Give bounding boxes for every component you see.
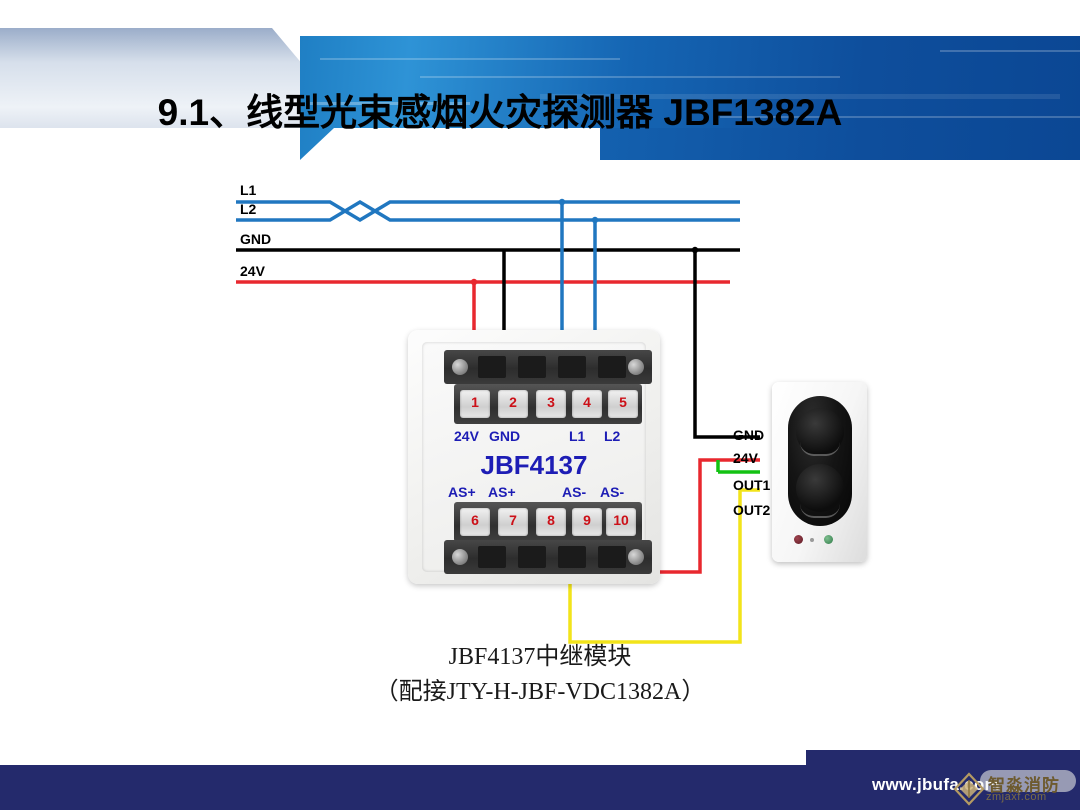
screw-icon [452, 549, 468, 565]
detector-indicator-leds [794, 534, 846, 544]
terminal-7[interactable]: 7 [498, 508, 528, 536]
terminal-6[interactable]: 6 [460, 508, 490, 536]
terminal-strip-lower [444, 540, 652, 574]
terminal-label-as-plus-1: AS+ [448, 484, 476, 500]
junction-dot [592, 217, 598, 223]
terminal-5[interactable]: 5 [608, 390, 638, 418]
module-name: JBF4137 [408, 450, 660, 481]
wiring-diagram: L1 L2 GND 24V 1 2 3 4 5 24V [0, 160, 1080, 760]
screw-icon [452, 359, 468, 375]
terminal-strip-upper [444, 350, 652, 384]
terminal-label-l1: L1 [569, 428, 585, 444]
bus-label-gnd: GND [240, 231, 271, 247]
terminal-label-as-plus-2: AS+ [488, 484, 516, 500]
strip-slot [558, 546, 586, 568]
wire-l1-bus [236, 202, 740, 220]
detector-lens-panel [788, 396, 852, 526]
detector-label-24v: 24V [733, 450, 758, 466]
wire-l2-bus [236, 202, 740, 220]
strip-slot [478, 356, 506, 378]
terminal-block-top: 1 2 3 4 5 [454, 384, 642, 424]
screw-icon [628, 359, 644, 375]
screw-icon [628, 549, 644, 565]
strip-slot [518, 356, 546, 378]
terminal-9[interactable]: 9 [572, 508, 602, 536]
jbf4137-module: 1 2 3 4 5 24V GND L1 L2 JBF4137 AS+ AS+ … [408, 330, 660, 584]
terminal-label-gnd: GND [489, 428, 520, 444]
terminal-label-24v: 24V [454, 428, 479, 444]
terminal-3[interactable]: 3 [536, 390, 566, 418]
junction-dot [692, 247, 698, 253]
page-title: 9.1、线型光束感烟火灾探测器 JBF1382A [0, 82, 1000, 136]
wire-gnd-to-detector [695, 250, 760, 437]
terminal-2[interactable]: 2 [498, 390, 528, 418]
terminal-1[interactable]: 1 [460, 390, 490, 418]
terminal-block-bottom: 6 7 8 9 10 [454, 502, 642, 542]
watermark-logo-icon [952, 772, 986, 806]
terminal-label-as-minus-2: AS- [600, 484, 624, 500]
terminal-label-l2: L2 [604, 428, 620, 444]
slide-header: 9.1、线型光束感烟火灾探测器 JBF1382A [0, 0, 1080, 160]
terminal-10[interactable]: 10 [606, 508, 636, 536]
terminal-8[interactable]: 8 [536, 508, 566, 536]
header-streak [420, 76, 840, 78]
header-streak [320, 58, 620, 60]
detector-label-out1: OUT1 [733, 477, 770, 493]
junction-dot [559, 199, 565, 205]
terminal-4[interactable]: 4 [572, 390, 602, 418]
caption-line-2: （配接JTY-H-JBF-VDC1382A） [0, 675, 1080, 710]
strip-slot [478, 546, 506, 568]
led-red-icon [794, 535, 803, 544]
led-small-icon [810, 538, 814, 542]
watermark: 智淼消防 zmjaxf.com [952, 768, 1077, 808]
strip-slot [598, 546, 626, 568]
bus-label-l1: L1 [240, 182, 256, 198]
terminal-label-as-minus-1: AS- [562, 484, 586, 500]
beam-detector-jbf1382a [772, 382, 867, 562]
strip-slot [558, 356, 586, 378]
led-green-icon [824, 535, 833, 544]
module-faceplate: 1 2 3 4 5 24V GND L1 L2 JBF4137 AS+ AS+ … [422, 342, 646, 572]
strip-slot [518, 546, 546, 568]
detector-label-out2: OUT2 [733, 502, 770, 518]
diagram-caption: JBF4137中继模块 （配接JTY-H-JBF-VDC1382A） [0, 640, 1080, 710]
caption-line-1: JBF4137中继模块 [0, 640, 1080, 675]
detector-arc [800, 442, 840, 456]
detector-arc [800, 504, 840, 518]
strip-slot [598, 356, 626, 378]
watermark-subtext: zmjaxf.com [986, 791, 1047, 803]
detector-label-gnd: GND [733, 427, 764, 443]
bus-label-24v: 24V [240, 263, 265, 279]
header-streak [940, 50, 1080, 52]
junction-dot [471, 279, 477, 285]
bus-label-l2: L2 [240, 201, 256, 217]
